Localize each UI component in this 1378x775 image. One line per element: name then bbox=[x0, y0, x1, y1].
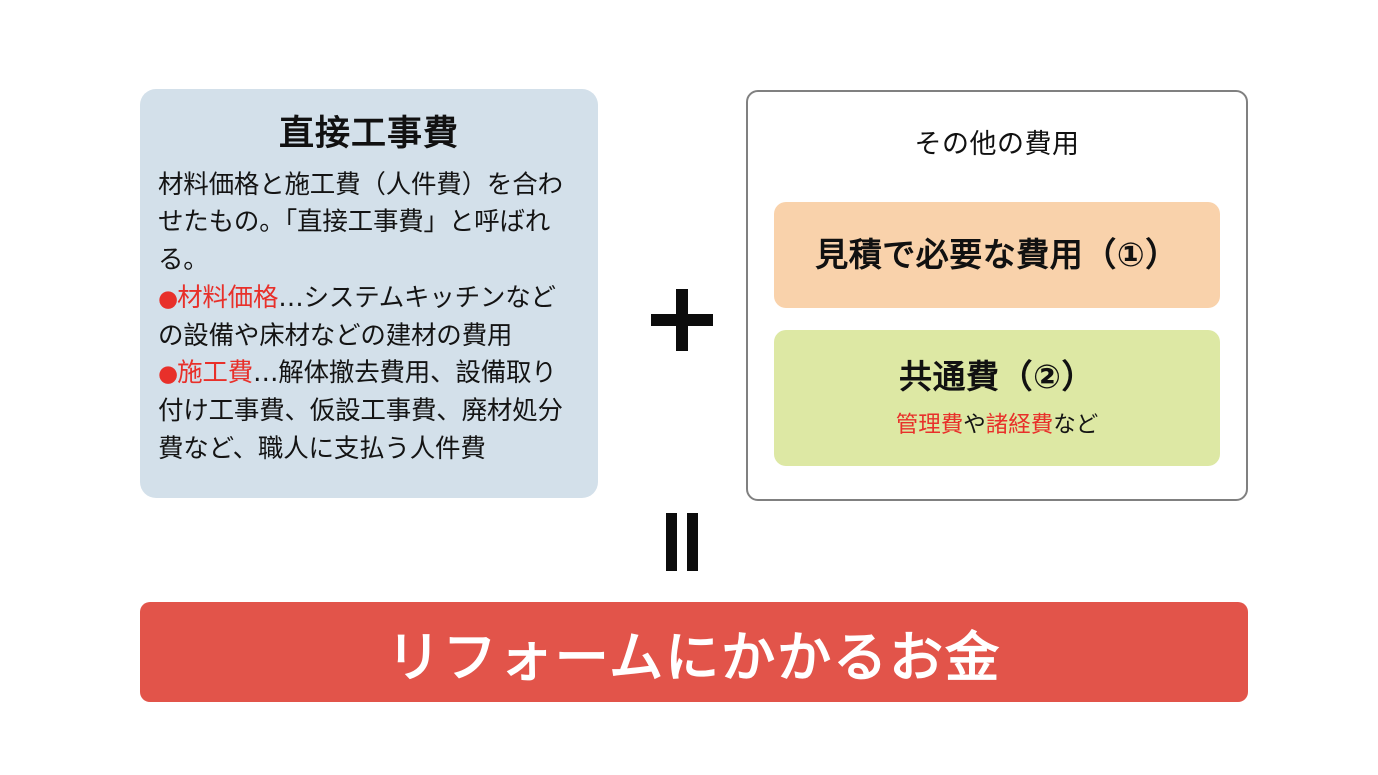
bullet-term-labor: 施工費 bbox=[177, 358, 253, 388]
common-cost-subtitle-part-ya: や bbox=[963, 412, 986, 438]
common-cost-label: 共通費（②） bbox=[899, 357, 1095, 397]
equals-right-bar bbox=[687, 513, 698, 571]
common-cost-subtitle: 管理費や諸経費など bbox=[896, 407, 1099, 439]
direct-cost-panel: 直接工事費 材料価格と施工費（人件費）を合わせたもの。「直接工事費」と呼ばれる。… bbox=[140, 89, 598, 498]
plus-operator-icon bbox=[651, 289, 713, 351]
direct-cost-body: 材料価格と施工費（人件費）を合わせたもの。「直接工事費」と呼ばれる。 ●材料価格… bbox=[158, 167, 580, 469]
bullet-dot-icon: ● bbox=[158, 361, 177, 387]
direct-cost-title: 直接工事費 bbox=[158, 113, 580, 157]
common-cost-subtitle-part-kanrihi: 管理費 bbox=[896, 412, 964, 438]
bullet-term-material: 材料価格 bbox=[177, 283, 278, 313]
direct-cost-intro-text: 材料価格と施工費（人件費）を合わせたもの。「直接工事費」と呼ばれる。 bbox=[158, 170, 563, 275]
total-cost-label: リフォームにかかるお金 bbox=[387, 613, 1001, 692]
equals-operator-icon bbox=[662, 513, 702, 571]
estimate-cost-label: 見積で必要な費用（①） bbox=[815, 235, 1178, 275]
estimate-cost-card: 見積で必要な費用（①） bbox=[774, 202, 1220, 308]
other-cost-title: その他の費用 bbox=[748, 122, 1246, 161]
plus-vertical-bar bbox=[676, 289, 688, 351]
bullet-dot-icon: ● bbox=[158, 286, 177, 312]
equals-left-bar bbox=[666, 513, 677, 571]
direct-cost-intro: 材料価格と施工費（人件費）を合わせたもの。「直接工事費」と呼ばれる。 bbox=[158, 167, 580, 280]
common-cost-card: 共通費（②） 管理費や諸経費など bbox=[774, 330, 1220, 466]
diagram-canvas: 直接工事費 材料価格と施工費（人件費）を合わせたもの。「直接工事費」と呼ばれる。… bbox=[0, 0, 1378, 775]
common-cost-subtitle-part-nado: など bbox=[1053, 412, 1098, 438]
bullet-separator-material: … bbox=[278, 283, 303, 313]
direct-cost-bullet-material: ●材料価格…システムキッチンなどの設備や床材などの建材の費用 bbox=[158, 280, 580, 355]
other-cost-panel: その他の費用 見積で必要な費用（①） 共通費（②） 管理費や諸経費など bbox=[746, 90, 1248, 501]
bullet-separator-labor: … bbox=[253, 358, 278, 388]
common-cost-subtitle-part-shokeihi: 諸経費 bbox=[986, 412, 1054, 438]
direct-cost-bullet-labor: ●施工費…解体撤去費用、設備取り付け工事費、仮設工事費、廃材処分費など、職人に支… bbox=[158, 355, 580, 468]
total-cost-banner: リフォームにかかるお金 bbox=[140, 602, 1248, 702]
